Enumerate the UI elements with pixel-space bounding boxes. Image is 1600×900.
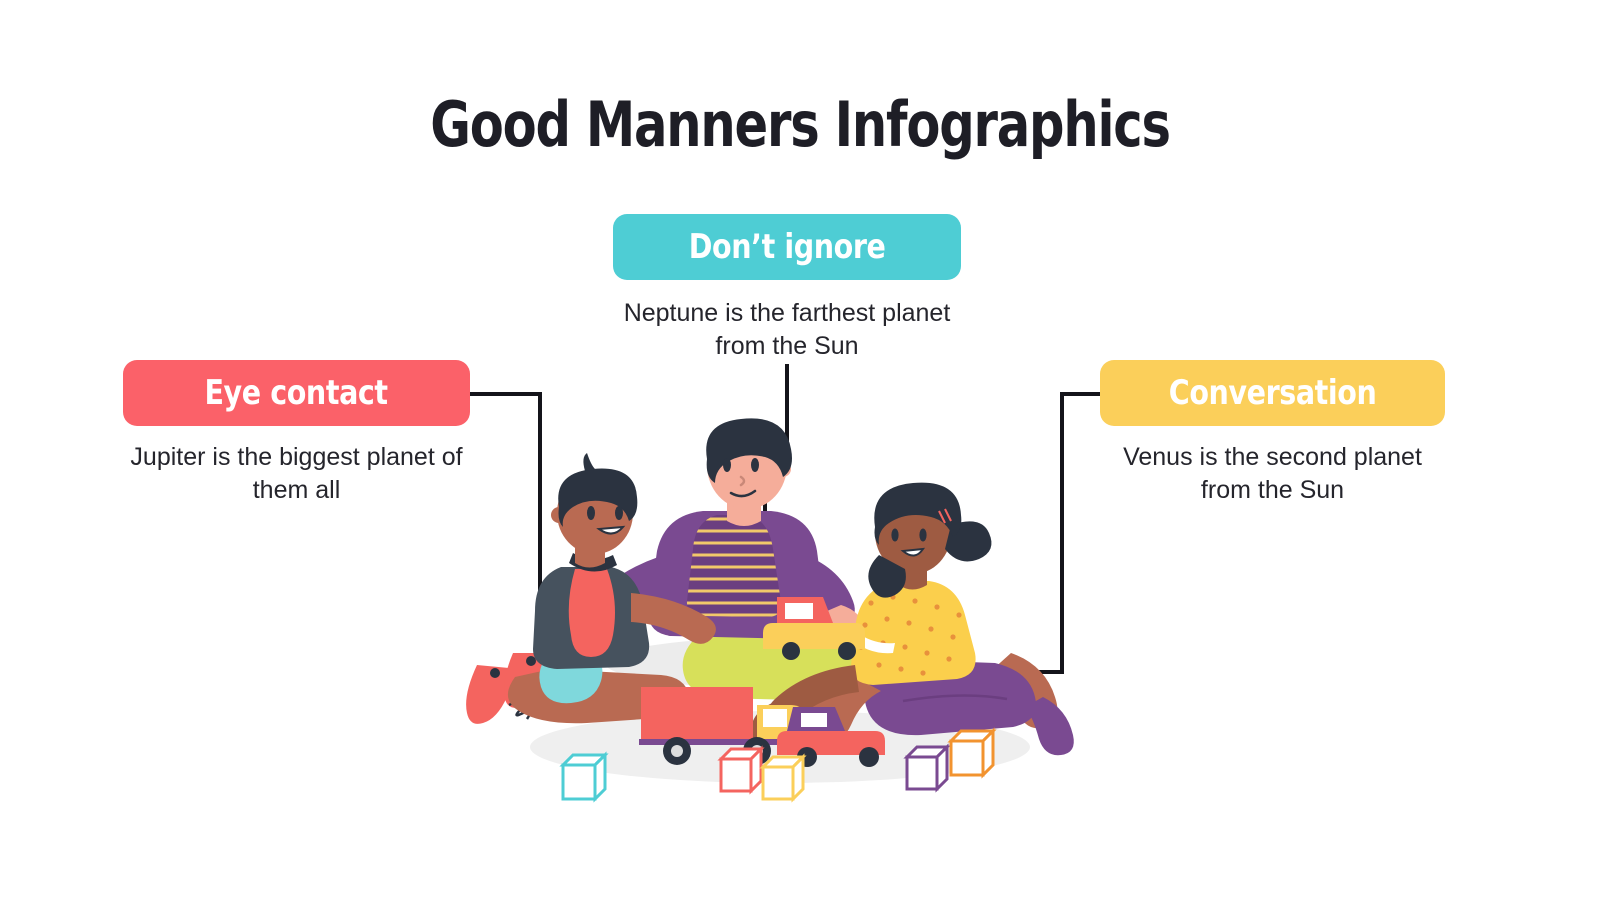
girl-eye-left xyxy=(891,529,898,542)
toy-car-right-window xyxy=(801,713,827,727)
toy-car-center-window xyxy=(785,603,813,619)
boy-left-hair-tuft xyxy=(583,453,595,471)
description-conversation: Venus is the second planet from the Sun xyxy=(1100,441,1445,507)
label-text-eye-contact: Eye contact xyxy=(205,373,388,413)
label-pill-dont-ignore[interactable]: Don’t ignore xyxy=(613,214,961,280)
block-cyan xyxy=(563,755,605,799)
boy-left-eye-right xyxy=(615,506,623,520)
toy-car-center-wheel-left xyxy=(782,642,800,660)
block-yellow xyxy=(763,757,803,799)
label-pill-conversation[interactable]: Conversation xyxy=(1100,360,1445,426)
description-eye-contact: Jupiter is the biggest planet of them al… xyxy=(123,441,470,507)
boy-left-apron xyxy=(569,569,615,657)
toy-car-center-wheel-right xyxy=(838,642,856,660)
boy-center-eye-right xyxy=(751,458,759,472)
page-title: Good Manners Infographics xyxy=(160,88,1440,161)
label-text-dont-ignore: Don’t ignore xyxy=(689,227,886,267)
label-pill-eye-contact[interactable]: Eye contact xyxy=(123,360,470,426)
boy-center-eye-left xyxy=(723,458,731,472)
boy-left-eye-left xyxy=(587,506,595,520)
girl-eye-right xyxy=(919,529,926,542)
illustration-children-playing xyxy=(455,415,1125,815)
label-text-conversation: Conversation xyxy=(1169,373,1377,413)
toy-car-right-wheel-right xyxy=(859,747,879,767)
boy-left-shoe-dot-2 xyxy=(526,656,536,666)
description-dont-ignore: Neptune is the farthest planet from the … xyxy=(613,297,961,363)
block-purple xyxy=(907,747,947,789)
toy-truck-window xyxy=(763,709,787,727)
toy-truck-trailer xyxy=(641,687,753,739)
block-red xyxy=(721,749,761,791)
slide-canvas: Good Manners Infographics xyxy=(0,0,1600,900)
toy-truck-wheel-rear-hub xyxy=(671,745,683,757)
boy-left-shoe-dot-1 xyxy=(490,668,500,678)
block-orange xyxy=(951,731,993,775)
girl-top xyxy=(851,581,976,685)
